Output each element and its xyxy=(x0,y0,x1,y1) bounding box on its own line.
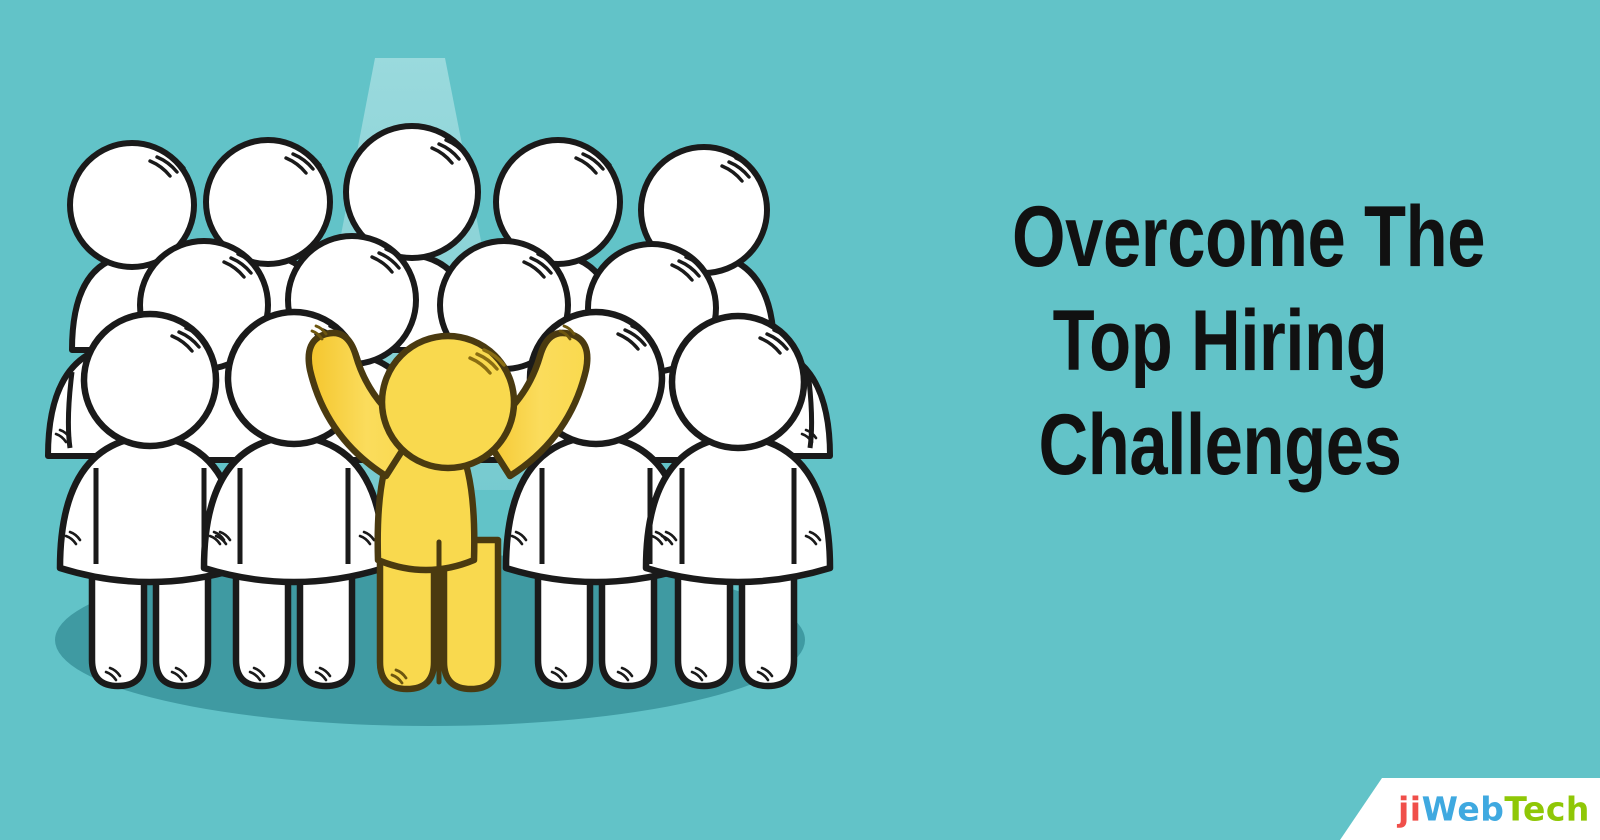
logo-text: jiWebTech xyxy=(1398,790,1590,829)
promo-banner: Overcome The Top Hiring Challenges jiWeb… xyxy=(0,0,1600,840)
headline-line-2: Top Hiring xyxy=(1012,289,1428,393)
headline-line-3: Challenges xyxy=(1012,393,1428,497)
logo-part-ji: ji xyxy=(1398,790,1422,829)
logo-part-tech: Tech xyxy=(1504,790,1590,829)
page-title: Overcome The Top Hiring Challenges xyxy=(1012,185,1428,497)
brand-logo[interactable]: jiWebTech xyxy=(1340,778,1600,840)
logo-part-web: Web xyxy=(1422,790,1505,829)
crowd-illustration xyxy=(30,20,860,820)
headline-line-1: Overcome The xyxy=(1012,185,1428,289)
crowd-illustration-svg xyxy=(30,20,860,820)
